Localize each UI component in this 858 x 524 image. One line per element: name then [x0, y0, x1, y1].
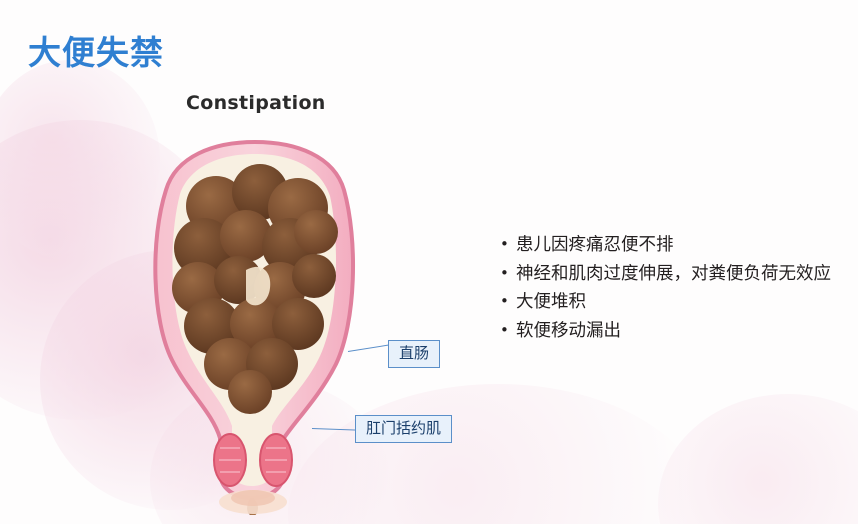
- callout-rectum: 直肠: [388, 340, 440, 368]
- bullet-list: • 患儿因疼痛忍便不排 • 神经和肌肉过度伸展，对粪便负荷无效应 • 大便堆积 …: [500, 232, 840, 346]
- list-item: • 神经和肌肉过度伸展，对粪便负荷无效应: [500, 261, 840, 288]
- list-item: • 软便移动漏出: [500, 318, 840, 345]
- bullet-marker-icon: •: [500, 232, 516, 256]
- slide: 大便失禁 Constipation: [0, 0, 858, 524]
- callout-anal-sphincter: 肛门括约肌: [355, 415, 452, 443]
- list-item: • 大便堆积: [500, 289, 840, 316]
- background-flower-decoration: [658, 394, 858, 524]
- constipation-anatomy-illustration: [120, 120, 390, 515]
- list-item-text: 患儿因疼痛忍便不排: [516, 232, 840, 259]
- page-title: 大便失禁: [28, 26, 164, 74]
- list-item-text: 神经和肌肉过度伸展，对粪便负荷无效应: [516, 261, 840, 288]
- list-item: • 患儿因疼痛忍便不排: [500, 232, 840, 259]
- list-item-text: 大便堆积: [516, 289, 840, 316]
- figure-caption: Constipation: [186, 92, 326, 114]
- bullet-marker-icon: •: [500, 261, 516, 285]
- bullet-marker-icon: •: [500, 318, 516, 342]
- list-item-text: 软便移动漏出: [516, 318, 840, 345]
- bullet-marker-icon: •: [500, 289, 516, 313]
